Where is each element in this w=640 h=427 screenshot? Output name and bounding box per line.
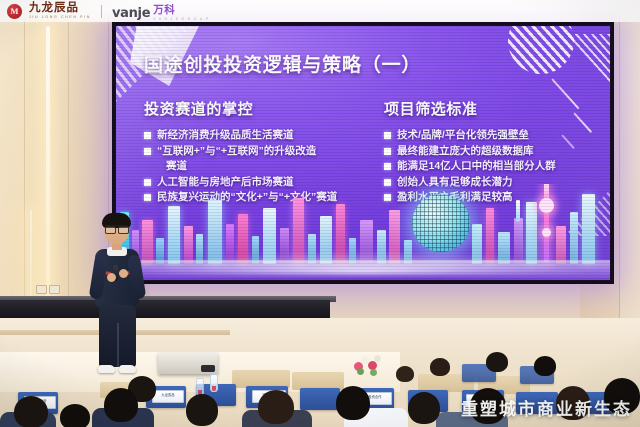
conference-photo: 国途创投投资逻辑与策略（一） 投资赛道的掌控 新经济消费升级品质生活赛道 “互联… — [0, 0, 640, 427]
wall-outlet-icon — [49, 285, 60, 294]
speaker-figure — [82, 215, 152, 375]
led-screen: 国途创投投资逻辑与策略（一） 投资赛道的掌控 新经济消费升级品质生活赛道 “互联… — [112, 22, 614, 284]
wall-outlet-icon — [36, 285, 47, 294]
brand-name-cn: 九龙辰品 — [29, 3, 91, 14]
audience-head — [258, 390, 294, 424]
wall-light-strip — [46, 26, 50, 342]
flower-arrangement — [352, 354, 386, 376]
screen-bezel — [112, 22, 614, 284]
audience-head — [336, 386, 370, 420]
partner-name-latin: vanje — [112, 6, 150, 21]
partner-name-sub: V A N J E G R O U P — [153, 17, 209, 21]
placard-text: 九龙辰品 — [153, 391, 183, 397]
partner-name-cn: 万科 — [153, 2, 209, 17]
brand-divider — [101, 5, 102, 18]
speaker-glasses-icon — [105, 225, 128, 232]
name-placard: 九龙辰品 — [152, 390, 184, 403]
projector-lens-icon — [201, 365, 215, 372]
projector-unit — [158, 352, 218, 374]
audience-head — [408, 392, 440, 424]
brand-partner: vanje 万科 V A N J E G R O U P — [112, 2, 209, 21]
audience-head — [14, 396, 48, 427]
logo-badge-icon: M — [7, 4, 22, 19]
watermark-text: 重塑城市商业新生态 — [461, 395, 632, 420]
wall-seam — [24, 0, 25, 340]
speaker-hand — [107, 273, 116, 282]
water-bottle-icon — [210, 374, 218, 392]
brand-name-pinyin: JIU LONG CHEN PIN — [29, 15, 91, 19]
brand-primary: 九龙辰品 JIU LONG CHEN PIN — [29, 3, 91, 19]
audience-head — [60, 404, 90, 427]
audience-head — [186, 394, 218, 426]
audience-head — [104, 388, 138, 422]
brand-header-overlay: M 九龙辰品 JIU LONG CHEN PIN vanje 万科 V A N … — [0, 0, 640, 22]
wall-seam — [68, 0, 69, 340]
speaker-hand — [119, 269, 128, 278]
